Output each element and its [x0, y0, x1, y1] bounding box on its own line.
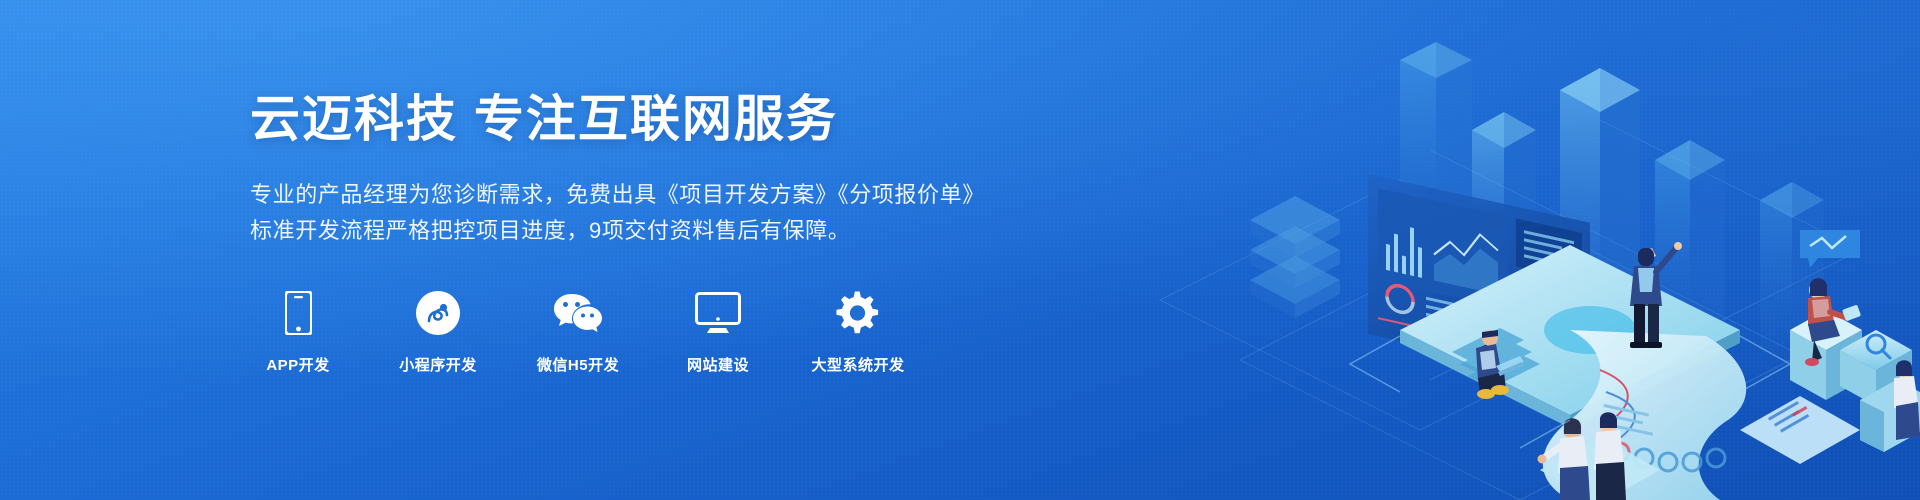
subtitle-line-1: 专业的产品经理为您诊断需求，免费出具《项目开发方案》《分项报价单》 — [250, 177, 985, 213]
service-item-website[interactable]: 网站建设 — [670, 290, 766, 375]
chat-bubble — [1800, 230, 1860, 268]
service-item-app[interactable]: APP开发 — [250, 290, 346, 375]
gear-icon — [836, 290, 880, 336]
isometric-illustration — [1100, 0, 1920, 500]
subtitle-block: 专业的产品经理为您诊断需求，免费出具《项目开发方案》《分项报价单》 标准开发流程… — [250, 177, 985, 248]
mobile-phone-icon — [285, 290, 312, 336]
service-label: 网站建设 — [687, 354, 749, 375]
service-list: APP开发 小程序开发 — [250, 290, 985, 375]
page-title: 云迈科技 专注互联网服务 — [250, 92, 985, 147]
monitor-icon — [695, 290, 741, 336]
server-stack — [1250, 196, 1340, 318]
service-label: 微信H5开发 — [537, 354, 619, 375]
service-label: APP开发 — [266, 354, 329, 375]
mini-program-icon — [416, 290, 460, 336]
wechat-icon — [553, 290, 603, 336]
service-item-wechat[interactable]: 微信H5开发 — [530, 290, 626, 375]
illustration-container — [1100, 0, 1920, 500]
service-item-miniprogram[interactable]: 小程序开发 — [390, 290, 486, 375]
service-label: 大型系统开发 — [811, 354, 904, 375]
hero-banner: 云迈科技 专注互联网服务 专业的产品经理为您诊断需求，免费出具《项目开发方案》《… — [0, 0, 1920, 500]
service-label: 小程序开发 — [399, 354, 477, 375]
service-item-system[interactable]: 大型系统开发 — [810, 290, 906, 375]
analytics-sheet — [1740, 396, 1860, 464]
subtitle-line-2: 标准开发流程严格把控项目进度，9项交付资料售后有保障。 — [250, 213, 985, 249]
banner-content: 云迈科技 专注互联网服务 专业的产品经理为您诊断需求，免费出具《项目开发方案》《… — [250, 92, 985, 375]
